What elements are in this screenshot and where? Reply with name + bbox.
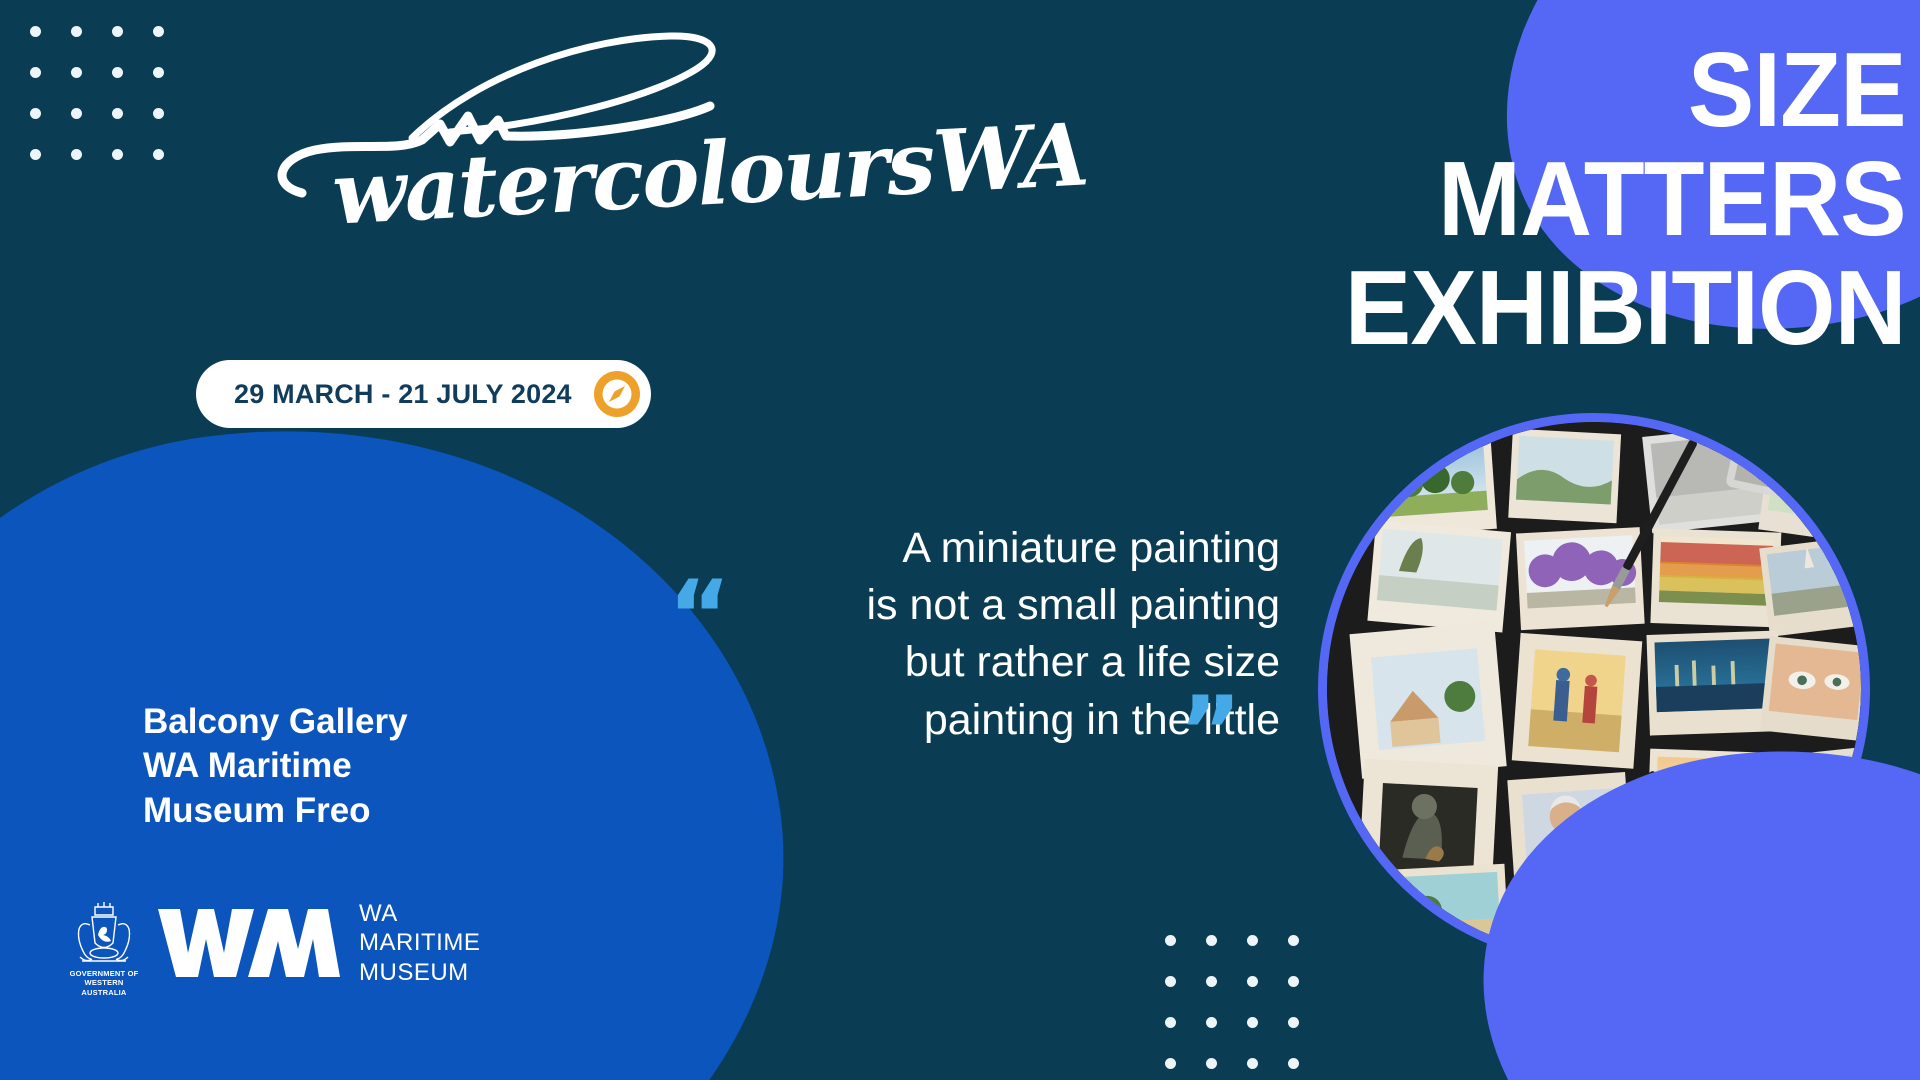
wa-government-crest-wrap: GOVERNMENT OF WESTERN AUSTRALIA xyxy=(68,895,140,991)
quote-line-2: is not a small painting xyxy=(680,577,1280,634)
wam-wordmark-icon xyxy=(156,903,341,983)
dot xyxy=(1288,1058,1299,1069)
dot xyxy=(71,149,82,160)
compass-icon xyxy=(594,371,640,417)
dot xyxy=(1165,1058,1176,1069)
venue-text: Balcony Gallery WA Maritime Museum Freo xyxy=(143,700,408,833)
poster-canvas: watercoloursWA 29 MARCH - 21 JULY 2024 S… xyxy=(0,0,1920,1080)
miniature-paintings-photo xyxy=(1318,413,1870,965)
title-line-3: EXHIBITION xyxy=(1345,254,1906,363)
venue-line-3: Museum Freo xyxy=(143,789,408,833)
quote-close-mark: ” xyxy=(1179,684,1242,780)
title-line-2: MATTERS xyxy=(1345,145,1906,254)
dot-grid-bottom xyxy=(1165,935,1299,1069)
wam-name-line-3: MUSEUM xyxy=(359,958,480,987)
dot xyxy=(1247,1058,1258,1069)
dot-grid-top-left xyxy=(30,26,164,160)
dot xyxy=(1165,935,1176,946)
crest-caption-line-1: GOVERNMENT OF xyxy=(68,969,140,978)
dot xyxy=(112,108,123,119)
quote-line-1: A miniature painting xyxy=(680,520,1280,577)
wam-name-line-1: WA xyxy=(359,899,480,928)
title-line-1: SIZE xyxy=(1345,36,1906,145)
dot xyxy=(1247,935,1258,946)
dot xyxy=(112,67,123,78)
dot xyxy=(30,149,41,160)
dot xyxy=(1206,935,1217,946)
quote-block: “ A miniature painting is not a small pa… xyxy=(680,520,1280,749)
dot xyxy=(71,67,82,78)
crest-caption-line-2: WESTERN AUSTRALIA xyxy=(68,978,140,997)
dot xyxy=(1247,1017,1258,1028)
wam-museum-name: WA MARITIME MUSEUM xyxy=(359,899,480,987)
dot xyxy=(1165,1017,1176,1028)
venue-line-2: WA Maritime xyxy=(143,744,408,788)
dot xyxy=(71,26,82,37)
dot xyxy=(30,26,41,37)
dot xyxy=(1247,976,1258,987)
date-badge[interactable]: 29 MARCH - 21 JULY 2024 xyxy=(196,360,651,428)
wam-name-line-2: MARITIME xyxy=(359,928,480,957)
dot xyxy=(1288,935,1299,946)
page-title: SIZE MATTERS EXHIBITION xyxy=(1309,36,1906,364)
wa-maritime-museum-logo: GOVERNMENT OF WESTERN AUSTRALIA WA MARIT… xyxy=(68,895,480,991)
dot xyxy=(112,26,123,37)
dot xyxy=(71,108,82,119)
dot xyxy=(1288,976,1299,987)
dot xyxy=(1206,1058,1217,1069)
crest-caption: GOVERNMENT OF WESTERN AUSTRALIA xyxy=(68,969,140,997)
dot xyxy=(30,67,41,78)
dot xyxy=(1206,1017,1217,1028)
dot xyxy=(30,108,41,119)
watercolourswa-logo: watercoloursWA xyxy=(150,20,850,235)
dot xyxy=(1288,1017,1299,1028)
dot xyxy=(1165,976,1176,987)
dot xyxy=(1206,976,1217,987)
date-badge-label: 29 MARCH - 21 JULY 2024 xyxy=(234,379,572,410)
dot xyxy=(112,149,123,160)
venue-line-1: Balcony Gallery xyxy=(143,700,408,744)
